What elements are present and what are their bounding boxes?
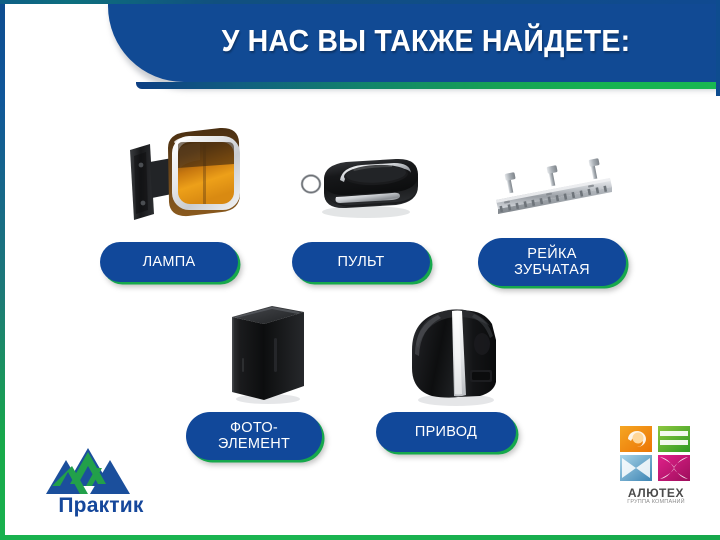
product-image-photocell (212, 300, 322, 410)
label-pill-drive[interactable]: ПРИВОД (376, 412, 516, 452)
frame-border-left (0, 0, 5, 540)
product-image-lamp (110, 118, 250, 228)
alutech-logo: АЛЮТЕХ ГРУППА КОМПАНИЙ (618, 424, 694, 514)
alutech-wordmark: АЛЮТЕХ (612, 486, 700, 500)
label-pill-rack[interactable]: РЕЙКА ЗУБЧАТАЯ (478, 238, 626, 286)
header-accent-underline (136, 82, 720, 89)
product-image-remote (296, 146, 426, 226)
praktik-triangle-logo (36, 446, 166, 496)
toothed-rack-icon (488, 156, 628, 226)
product-image-drive (396, 296, 512, 412)
signal-lamp-icon (110, 118, 250, 228)
praktik-wordmark: Практик (36, 494, 166, 518)
alutech-squares-logo (618, 424, 694, 484)
frame-border-right (716, 0, 720, 96)
photocell-sensor-icon (212, 300, 322, 410)
frame-border-top (0, 0, 720, 4)
label-pill-remote[interactable]: ПУЛЬТ (292, 242, 430, 282)
label-pill-lamp[interactable]: ЛАМПА (100, 242, 238, 282)
label-pill-photocell[interactable]: ФОТО- ЭЛЕМЕНТ (186, 412, 322, 460)
frame-border-bottom (0, 535, 720, 540)
slide-canvas: У НАС ВЫ ТАКЖЕ НАЙДЕТЕ: (0, 0, 720, 540)
praktik-logo: Практик (36, 446, 166, 528)
product-image-rack (488, 156, 628, 226)
alutech-subtitle: ГРУППА КОМПАНИЙ (612, 499, 700, 505)
gate-drive-motor-icon (396, 296, 512, 412)
header-banner: У НАС ВЫ ТАКЖЕ НАЙДЕТЕ: (108, 0, 720, 90)
remote-control-icon (296, 146, 426, 226)
page-title: У НАС ВЫ ТАКЖЕ НАЙДЕТЕ: (132, 0, 695, 82)
